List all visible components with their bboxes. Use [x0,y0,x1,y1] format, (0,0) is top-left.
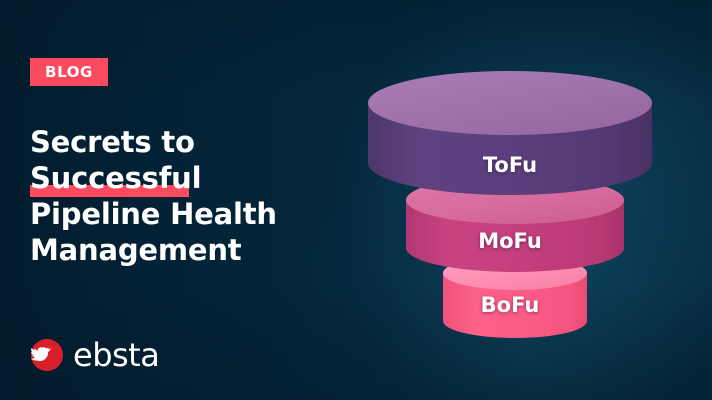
funnel-label-bofu: BoFu [340,293,680,317]
content-column: BLOG Secrets to Successful Pipeline Heal… [30,0,360,400]
headline-line-2-text: Successful [30,161,201,195]
tofu-top-disc [368,71,652,135]
headline-line-3: Pipeline Health [30,196,350,232]
funnel-svg [340,40,680,370]
headline-line-2: Successful [30,160,350,196]
blog-banner-canvas: BLOG Secrets to Successful Pipeline Heal… [0,0,712,400]
blog-badge: BLOG [30,58,108,86]
page-title: Secrets to Successful Pipeline Health Ma… [30,124,350,268]
blog-badge-label: BLOG [45,65,93,80]
ebsta-bird-icon [30,338,64,372]
funnel-label-tofu: ToFu [340,153,680,177]
headline-line-4: Management [30,232,350,268]
ebsta-logo: ebsta [30,338,159,372]
headline-line-3-text: Pipeline Health [30,197,277,231]
headline-line-1: Secrets to [30,124,350,160]
marketing-funnel-graphic: ToFu MoFu BoFu [340,40,680,370]
headline-line-1-text: Secrets to [30,125,195,159]
ebsta-wordmark: ebsta [73,339,159,371]
funnel-label-mofu: MoFu [340,229,680,253]
headline-line-4-text: Management [30,233,241,267]
